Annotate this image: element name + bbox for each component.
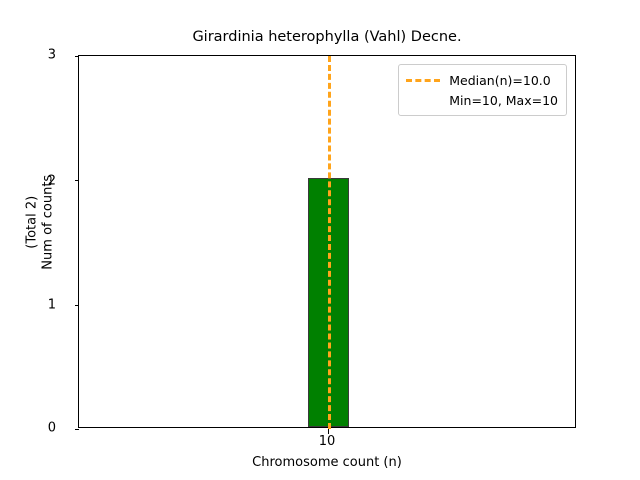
y-axis-label: (Total 2) Num of counts	[24, 36, 57, 409]
legend-item-median: Median(n)=10.0	[406, 70, 558, 90]
chart-figure: Girardinia heterophylla (Vahl) Decne. 0 …	[0, 0, 640, 480]
ytick-mark-0	[75, 429, 80, 430]
y-axis-label-line1: Num of counts	[41, 36, 57, 409]
legend-item-minmax: Min=10, Max=10	[406, 90, 558, 110]
x-axis-label: Chromosome count (n)	[78, 455, 576, 470]
chart-title: Girardinia heterophylla (Vahl) Decne.	[78, 29, 576, 45]
legend-label-median: Median(n)=10.0	[449, 73, 550, 88]
dashed-line-icon	[406, 79, 440, 82]
ytick-mark-3	[75, 56, 80, 57]
ytick-mark-1	[75, 305, 80, 306]
plot-area: Median(n)=10.0 Min=10, Max=10	[78, 55, 576, 428]
legend-label-minmax: Min=10, Max=10	[449, 93, 558, 108]
ytick-label-0: 0	[16, 421, 56, 436]
xtick-label-10: 10	[319, 434, 336, 449]
ytick-mark-2	[75, 180, 80, 181]
legend: Median(n)=10.0 Min=10, Max=10	[398, 64, 567, 116]
xtick-mark-10	[328, 429, 329, 434]
median-vline	[328, 56, 331, 429]
y-axis-label-line2: (Total 2)	[24, 36, 40, 409]
